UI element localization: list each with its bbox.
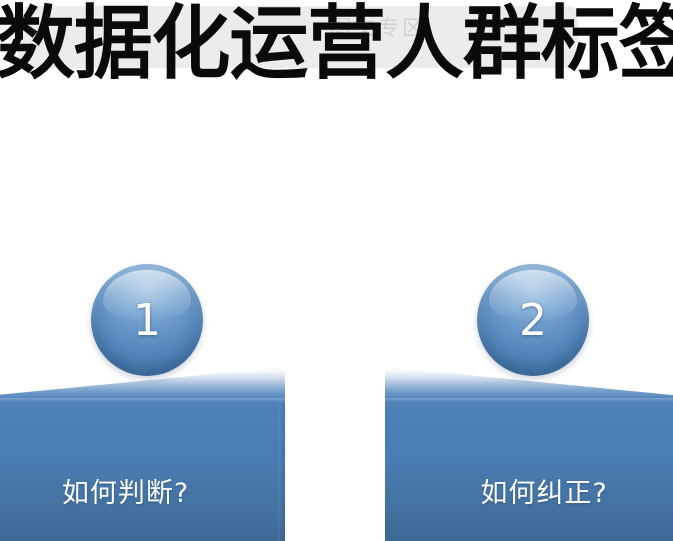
sphere-number-label-1: 1 <box>91 264 203 376</box>
slide-canvas: 图文专区 数据化运营人群标签 如何判断? 1 如何纠正? 2 <box>0 0 673 541</box>
number-sphere-1[interactable]: 1 <box>91 264 203 376</box>
sphere-number-label-2: 2 <box>477 264 589 376</box>
pedestal-body-1: 如何判断? <box>0 403 285 541</box>
page-title: 数据化运营人群标签 <box>0 0 671 92</box>
pedestal-body-2: 如何纠正? <box>385 403 673 541</box>
pedestal-block-2[interactable]: 如何纠正? <box>385 368 673 541</box>
pedestal-block-1[interactable]: 如何判断? <box>0 368 285 541</box>
number-sphere-2[interactable]: 2 <box>477 264 589 376</box>
pedestal-label-1: 如何判断? <box>0 471 285 510</box>
pedestal-label-2: 如何纠正? <box>385 471 673 510</box>
